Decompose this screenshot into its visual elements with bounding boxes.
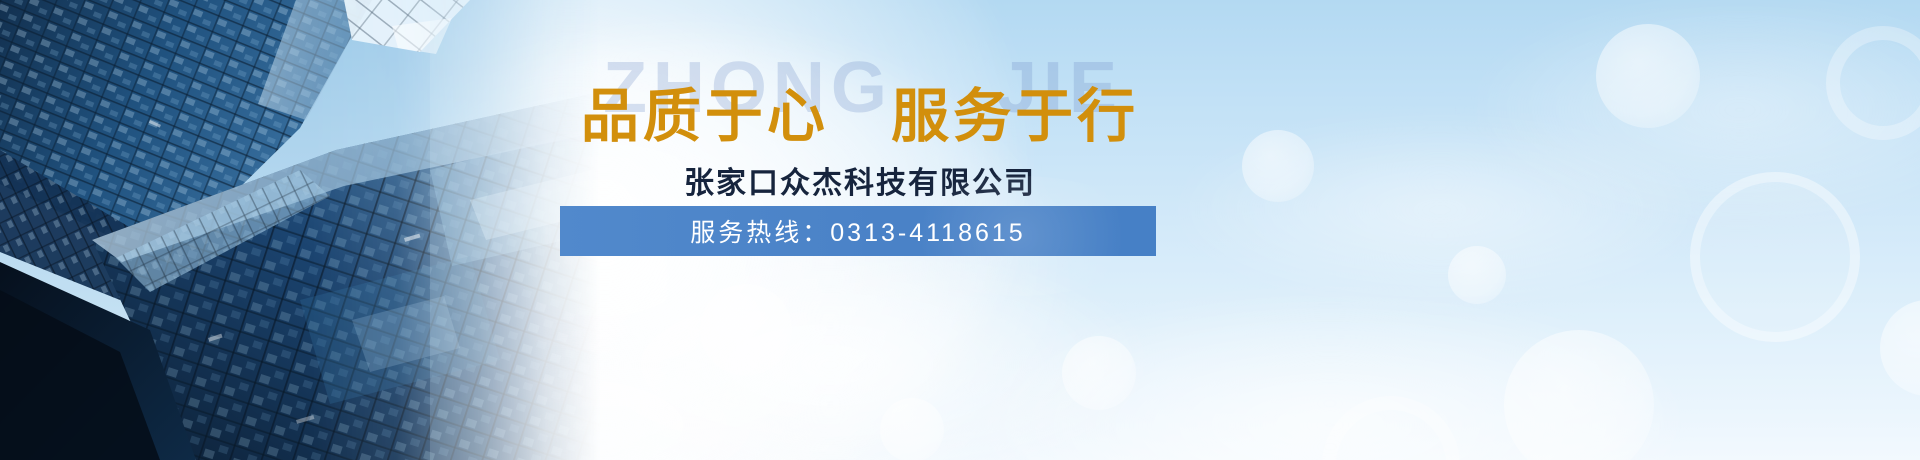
headline-phrase-1: 品质于心 [581,84,829,149]
skyscraper-photo [0,0,600,460]
hotline-bar: 服务热线：0313-4118615 [560,206,1156,256]
banner-text-block: ZHONG JIE 品质于心 服务于行 张家口众杰科技有限公司 服务热线：031… [560,0,1160,460]
promo-banner: ZHONG JIE 品质于心 服务于行 张家口众杰科技有限公司 服务热线：031… [0,0,1920,460]
headline-phrase-2: 服务于行 [891,84,1139,149]
company-name: 张家口众杰科技有限公司 [560,158,1160,202]
hotline-text: 服务热线：0313-4118615 [690,213,1025,249]
page-title: 品质于心 服务于行 [560,86,1160,149]
